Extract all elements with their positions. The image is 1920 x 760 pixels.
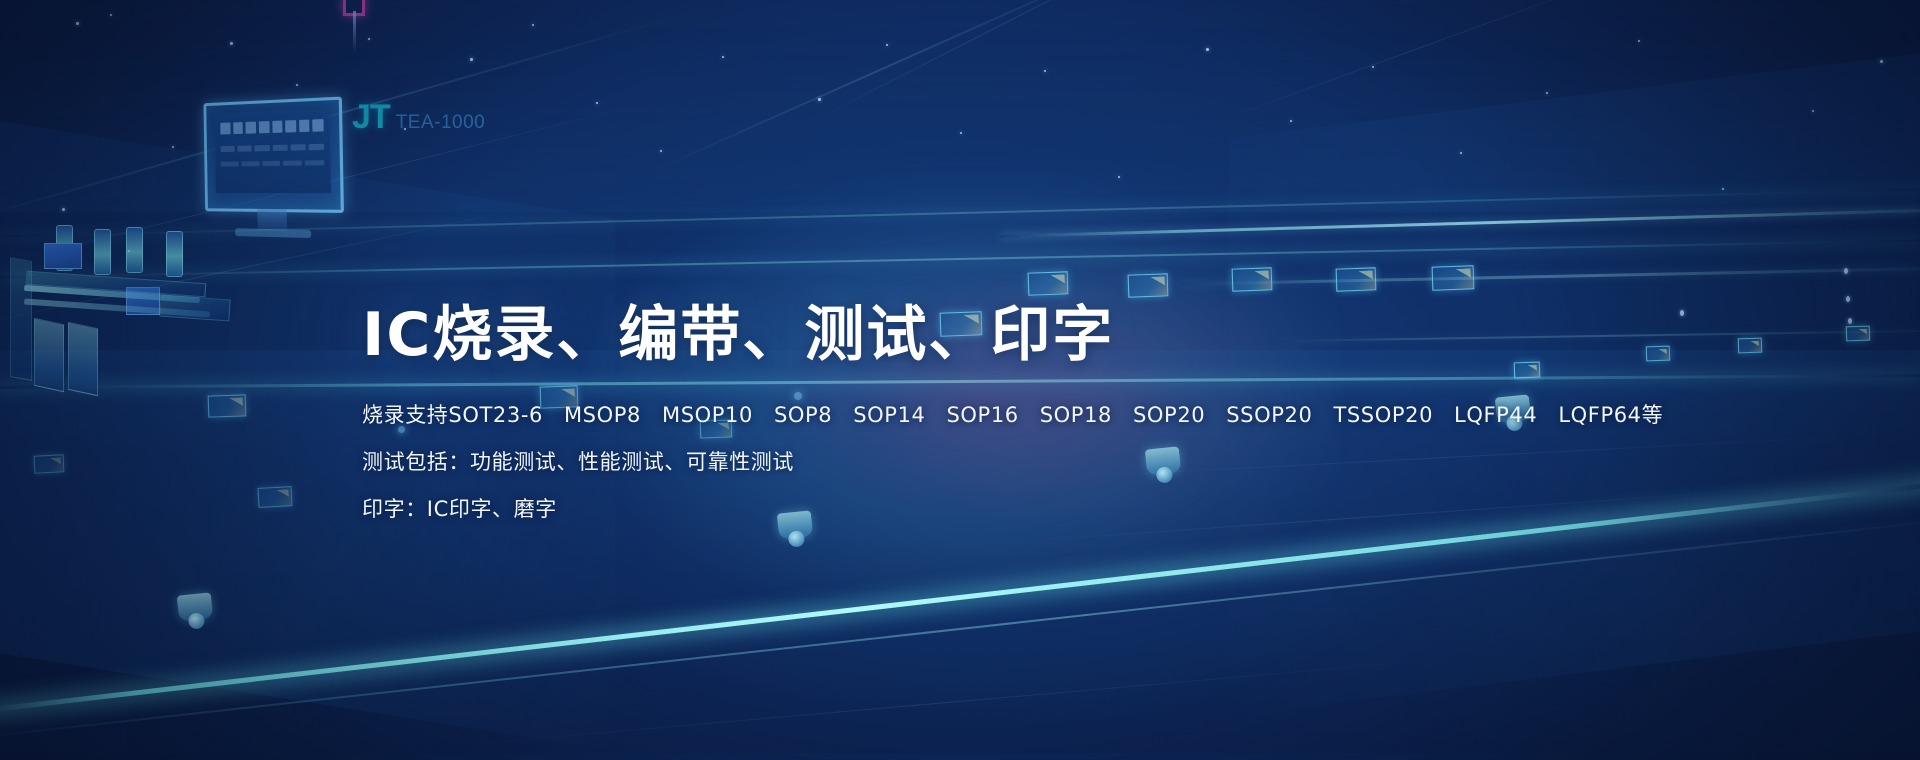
package-list: SOT23-6MSOP8MSOP10SOP8SOP14SOP16SOP18SOP… (448, 403, 1663, 427)
chip-module (1846, 326, 1871, 342)
particle-dot (296, 84, 298, 86)
chip-module (1738, 338, 1763, 354)
light-streak (0, 13, 686, 224)
particle-dot (660, 150, 662, 152)
particle-dot (62, 208, 65, 211)
particle-dot (76, 22, 79, 25)
particle-dot (1290, 120, 1292, 122)
watermark-logo: JT TEA-1000 (352, 98, 485, 137)
package-8: SSOP20 (1226, 405, 1312, 426)
hero-copy-block: IC烧录、编带、测试、印字 烧录支持SOT23-6MSOP8MSOP10SOP8… (362, 300, 1662, 520)
particle-dot (1206, 48, 1209, 51)
light-streak (0, 101, 650, 271)
particle-dot (1460, 152, 1462, 154)
particle-dot (596, 102, 598, 104)
light-streak (787, 0, 1233, 134)
package-1: MSOP8 (564, 405, 641, 426)
particle-dot (1638, 40, 1640, 42)
package-5: SOP16 (947, 405, 1019, 426)
particle-dot (110, 14, 112, 16)
package-9: TSSOP20 (1333, 405, 1433, 426)
page-title: IC烧录、编带、测试、印字 (362, 300, 1662, 371)
particle-dot (532, 24, 534, 26)
chip-module (1336, 267, 1377, 291)
package-4: SOP14 (853, 405, 925, 426)
burn-support-line: 烧录支持SOT23-6MSOP8MSOP10SOP8SOP14SOP16SOP1… (362, 405, 1662, 426)
particle-dot (1680, 310, 1684, 316)
particle-dot (1722, 188, 1724, 190)
particle-dot (128, 250, 130, 252)
particle-dot (818, 98, 821, 101)
conveyor-light-beam-secondary (0, 514, 1920, 744)
package-6: SOP18 (1040, 405, 1112, 426)
particle-dot (368, 38, 370, 40)
particle-dot (230, 42, 233, 45)
light-streak (1196, 0, 1685, 130)
particle-dot (1880, 60, 1883, 63)
conveyor-rail-second (1180, 267, 1920, 285)
particle-dot (1044, 70, 1046, 72)
service-detail-list: 烧录支持SOT23-6MSOP8MSOP10SOP8SOP14SOP16SOP1… (362, 405, 1662, 520)
chip-module (1128, 273, 1169, 297)
marking-service-line: 印字：IC印字、磨字 (362, 499, 1662, 520)
control-monitor (200, 100, 342, 212)
banner-hero: JT TEA-1000 IC烧录、编带、测试、印字 烧录支持SOT23-6MSO… (0, 0, 1920, 760)
chip-module (1232, 267, 1273, 291)
light-ribbon-mid (0, 240, 1920, 279)
package-3: SOP8 (774, 405, 832, 426)
particle-dot (1848, 318, 1852, 324)
particle-dot (722, 56, 724, 58)
particle-dot (1846, 296, 1850, 302)
indicator-marker-icon (343, 0, 365, 16)
chip-module (208, 394, 247, 417)
chip-module (1028, 271, 1069, 295)
light-ribbon-far (0, 189, 1919, 238)
package-10: LQFP44 (1454, 405, 1537, 426)
particle-dot (470, 58, 473, 61)
burn-support-prefix: 烧录支持 (362, 403, 448, 427)
conveyor-rail-top (1000, 209, 1920, 238)
particle-dot (886, 44, 888, 46)
ic-handler-machine (10, 225, 250, 410)
package-7: SOP20 (1133, 405, 1205, 426)
particle-dot (960, 132, 962, 134)
particle-dot (1546, 92, 1548, 94)
light-streak (123, 585, 1016, 696)
light-streak (422, 652, 1518, 749)
watermark-brand: JT (352, 98, 390, 137)
chip-module (34, 454, 65, 474)
caster-wheel (177, 592, 214, 621)
particle-dot (1118, 176, 1120, 178)
particle-dot (1844, 268, 1848, 274)
package-11: LQFP64等 (1558, 405, 1663, 426)
chip-module (257, 486, 292, 508)
package-0: SOT23-6 (448, 405, 543, 426)
package-2: MSOP10 (662, 405, 753, 426)
particle-dot (1812, 110, 1814, 112)
light-streak (644, 0, 1156, 176)
ceiling-plane (0, 0, 1920, 213)
chip-module (1432, 265, 1475, 290)
watermark-model: TEA-1000 (396, 112, 486, 134)
particle-dot (1372, 66, 1374, 68)
test-scope-line: 测试包括：功能测试、性能测试、可靠性测试 (362, 452, 1662, 473)
particle-dot (172, 146, 174, 148)
